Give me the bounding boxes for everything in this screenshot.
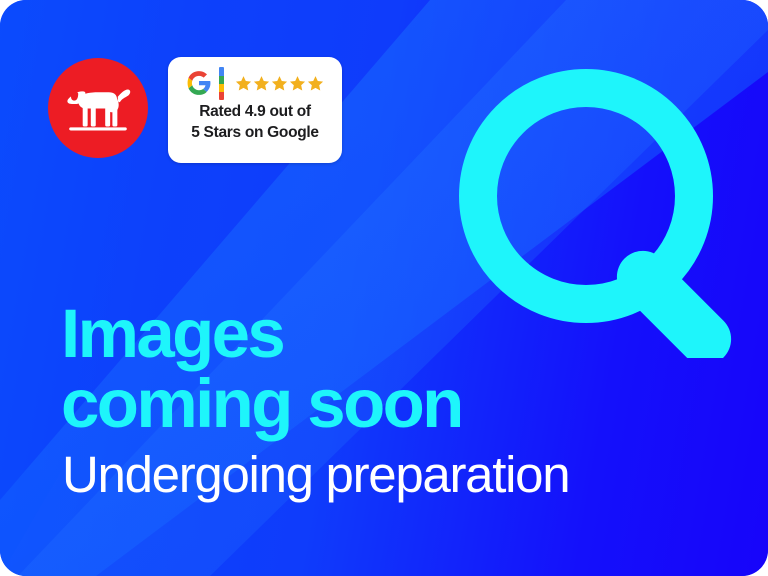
google-g-icon: [186, 70, 212, 96]
star-icon: [307, 75, 324, 92]
star-icon: [235, 75, 252, 92]
star-rating: [235, 75, 324, 92]
star-icon: [271, 75, 288, 92]
image-placeholder-card: Rated 4.9 out of 5 Stars on Google Image…: [0, 0, 768, 576]
google-review-badge[interactable]: Rated 4.9 out of 5 Stars on Google: [168, 57, 342, 163]
dog-silhouette-icon: [62, 77, 134, 140]
headline-line-1: Images: [61, 298, 701, 370]
star-icon: [253, 75, 270, 92]
badge-rating-row: [186, 66, 324, 100]
placeholder-message: Images coming soon Undergoing preparatio…: [61, 298, 701, 503]
brand-logo: [48, 58, 148, 158]
badge-rating-line-1: Rated 4.9 out of: [199, 102, 310, 121]
google-color-bar-icon: [219, 67, 224, 100]
headline-line-2: coming soon: [61, 368, 701, 440]
star-icon: [289, 75, 306, 92]
badge-rating-line-2: 5 Stars on Google: [191, 123, 319, 142]
subheadline: Undergoing preparation: [62, 447, 701, 503]
